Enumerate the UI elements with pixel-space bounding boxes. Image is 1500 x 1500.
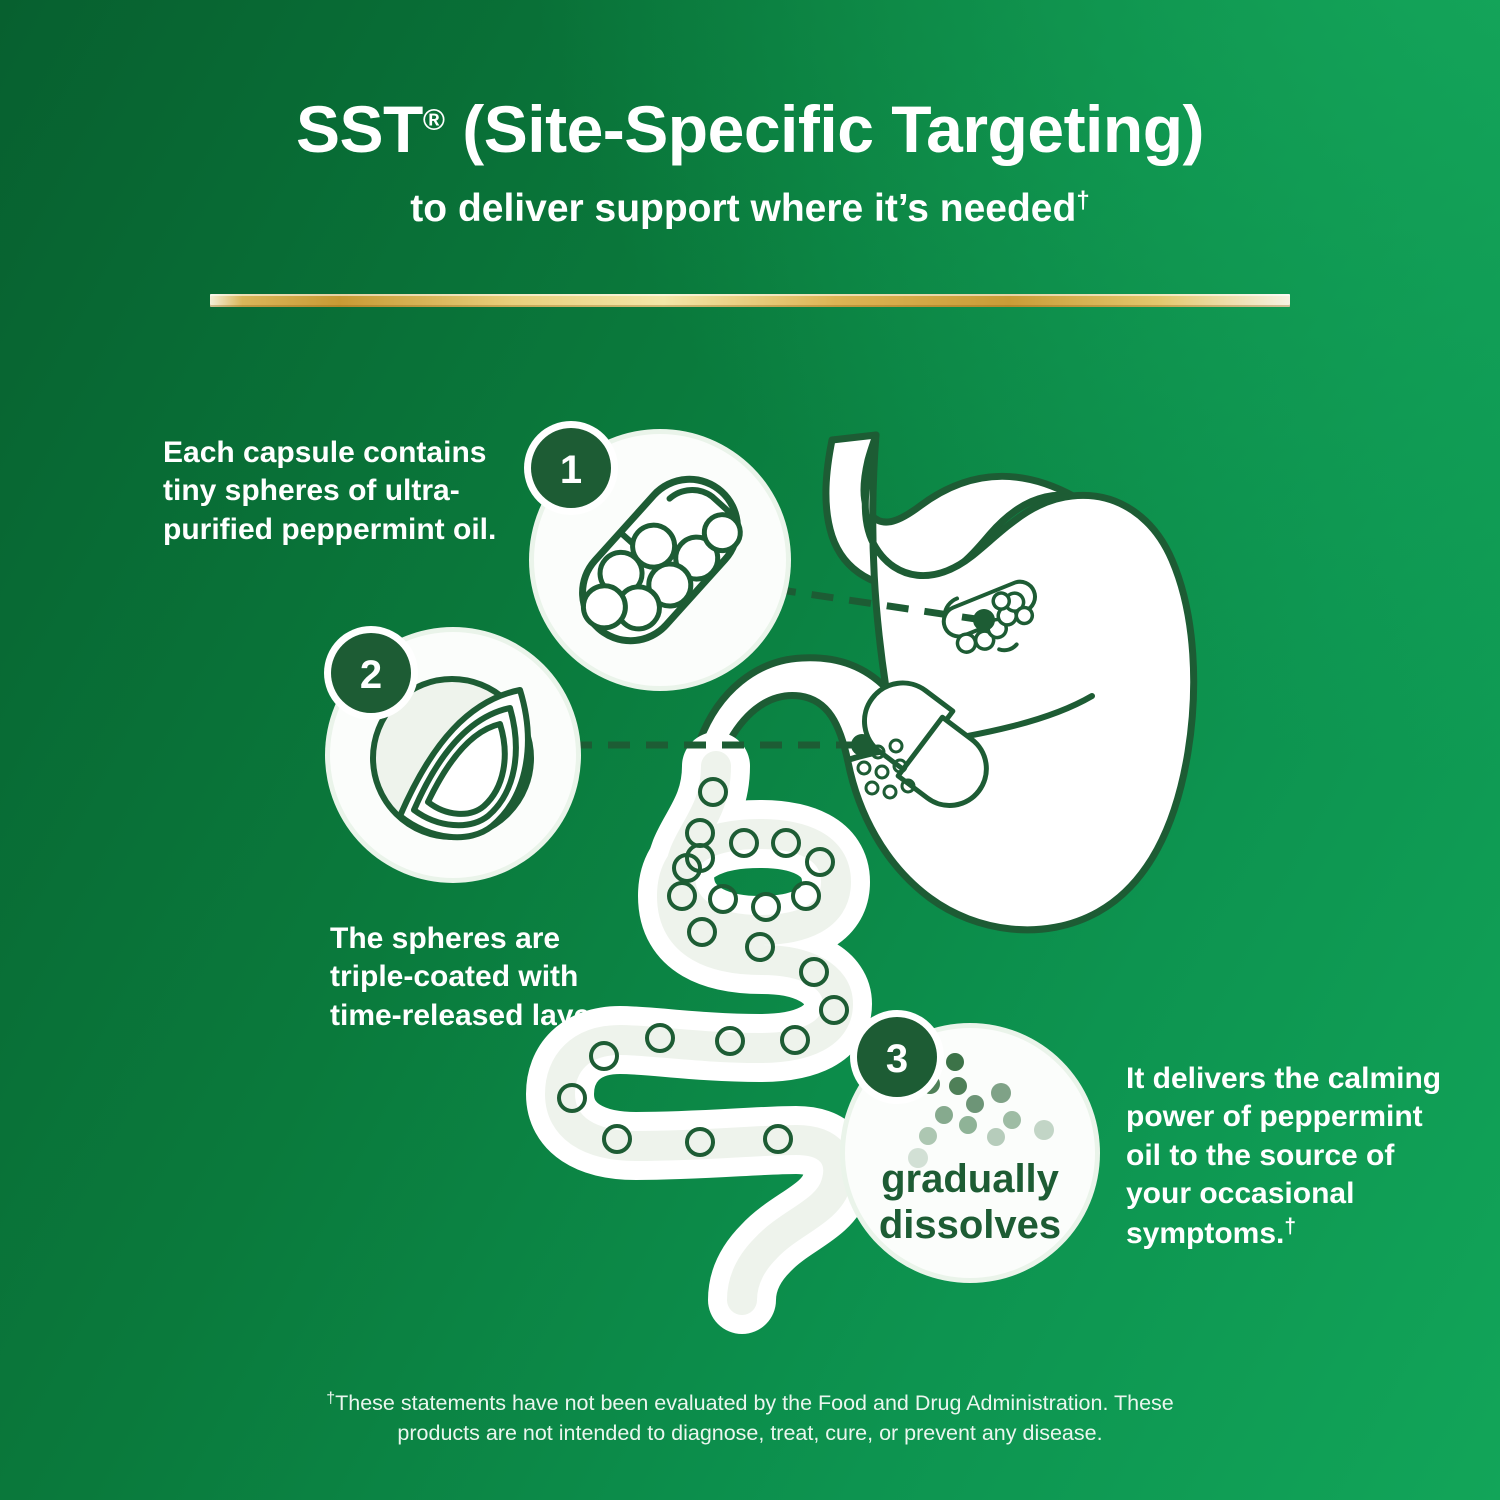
coated-sphere-cross-section-icon: [373, 679, 531, 837]
dagger-icon: †: [1076, 187, 1089, 214]
badge-3: [857, 1017, 937, 1097]
title-rest: (Site-Specific Targeting): [444, 92, 1204, 166]
badge-2: [331, 633, 411, 713]
note-delivery: It delivers the calming power of pepperm…: [1126, 1060, 1466, 1253]
capsule-with-spheres-icon: [562, 460, 757, 662]
header: SST® (Site-Specific Targeting) to delive…: [0, 0, 1500, 231]
note-triple-coated: The spheres are triple-coated with time-…: [330, 920, 660, 1035]
callout-connectors: [570, 589, 995, 756]
callout-number-1: 1: [560, 448, 582, 492]
badge-ring-2: [324, 626, 418, 720]
stomach-body-shape: [700, 435, 1194, 930]
callout-caption-line1: gradually: [881, 1157, 1060, 1201]
subtitle-text: to deliver support where it’s needed: [410, 187, 1076, 230]
title-main: SST: [296, 92, 423, 166]
infographic-page: SST® (Site-Specific Targeting) to delive…: [0, 0, 1500, 1500]
callout-number-2: 2: [360, 653, 382, 697]
dagger-icon: †: [1284, 1215, 1296, 1238]
dissolving-particles-icon: [908, 1053, 1054, 1168]
connector-endpoint-2: [851, 734, 873, 756]
page-subtitle: to deliver support where it’s needed†: [0, 162, 1500, 231]
capsule-dissolving-icon: [858, 676, 991, 812]
disclaimer: †These statements have not been evaluate…: [210, 1388, 1290, 1448]
badge-ring-3: [850, 1010, 944, 1104]
connector-line-1: [774, 589, 976, 619]
callout-number-3: 3: [886, 1037, 908, 1081]
badge-ring-1: [524, 421, 618, 515]
stomach-illustration: [700, 435, 1194, 930]
callout-circle-3[interactable]: gradually dissolves 3: [840, 1010, 1100, 1283]
callout-circle-1[interactable]: 1: [524, 421, 791, 691]
callout-circle-2[interactable]: 2: [324, 626, 581, 883]
spheres-cluster-icon: [937, 571, 1051, 669]
callout-caption-line2: dissolves: [879, 1203, 1061, 1247]
note-capsule-contents: Each capsule contains tiny spheres of ul…: [163, 434, 523, 549]
badge-1: [531, 428, 611, 508]
disclaimer-text: These statements have not been evaluated…: [335, 1391, 1174, 1445]
dagger-icon: †: [326, 1390, 335, 1407]
connector-endpoint-1: [973, 609, 995, 631]
page-title: SST® (Site-Specific Targeting): [0, 0, 1500, 162]
esophagus-shape: [826, 435, 1075, 587]
registered-trademark-icon: ®: [423, 104, 445, 137]
pylorus-line: [848, 696, 1092, 760]
gold-divider: [210, 294, 1290, 307]
